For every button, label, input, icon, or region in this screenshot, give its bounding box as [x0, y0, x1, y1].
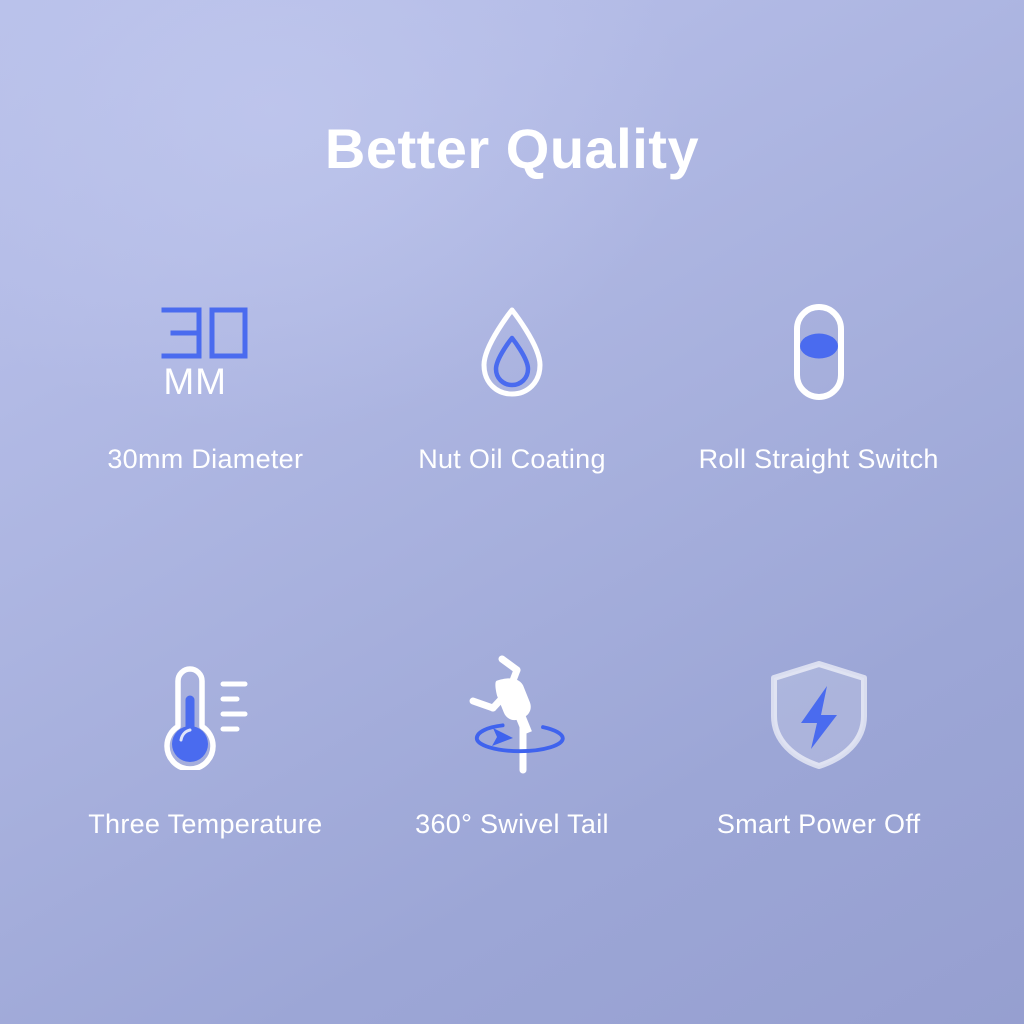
feature-item-three-temperature: Three Temperature: [52, 659, 359, 840]
feature-item-roll-straight-switch: Roll Straight Switch: [665, 296, 972, 475]
icon-container: [159, 659, 251, 771]
feature-label-nut-oil-coating: Nut Oil Coating: [418, 444, 606, 475]
feature-item-swivel-tail: 360° Swivel Tail: [359, 659, 666, 840]
feature-label-swivel-tail: 360° Swivel Tail: [415, 809, 609, 840]
thermometer-icon: [159, 660, 251, 770]
rotating-plug-icon: [451, 654, 573, 776]
feature-label-diameter: 30mm Diameter: [107, 444, 303, 475]
feature-item-smart-power-off: Smart Power Off: [665, 659, 972, 840]
icon-container: MM: [157, 296, 253, 408]
shield-bolt-icon: [767, 659, 871, 771]
page-title: Better Quality: [0, 118, 1024, 180]
toggle-switch-icon[interactable]: [792, 302, 846, 402]
feature-item-nut-oil-coating: Nut Oil Coating: [359, 296, 666, 475]
icon-container: [451, 659, 573, 771]
30mm-icon: MM: [157, 306, 253, 398]
feature-label-roll-straight-switch: Roll Straight Switch: [699, 444, 939, 475]
icon-container: [792, 296, 846, 408]
digits-30-glyph: [161, 306, 249, 362]
feature-label-smart-power-off: Smart Power Off: [717, 809, 921, 840]
unit-label-mm: MM: [163, 363, 227, 400]
feature-poster: Better Quality MM 30mm D: [0, 0, 1024, 1024]
feature-grid: MM 30mm Diameter Nut Oil Coating: [52, 296, 972, 840]
feature-item-diameter: MM 30mm Diameter: [52, 296, 359, 475]
icon-container: [767, 659, 871, 771]
icon-container: [478, 296, 546, 408]
feature-label-three-temperature: Three Temperature: [88, 809, 322, 840]
water-drop-icon: [478, 305, 546, 399]
